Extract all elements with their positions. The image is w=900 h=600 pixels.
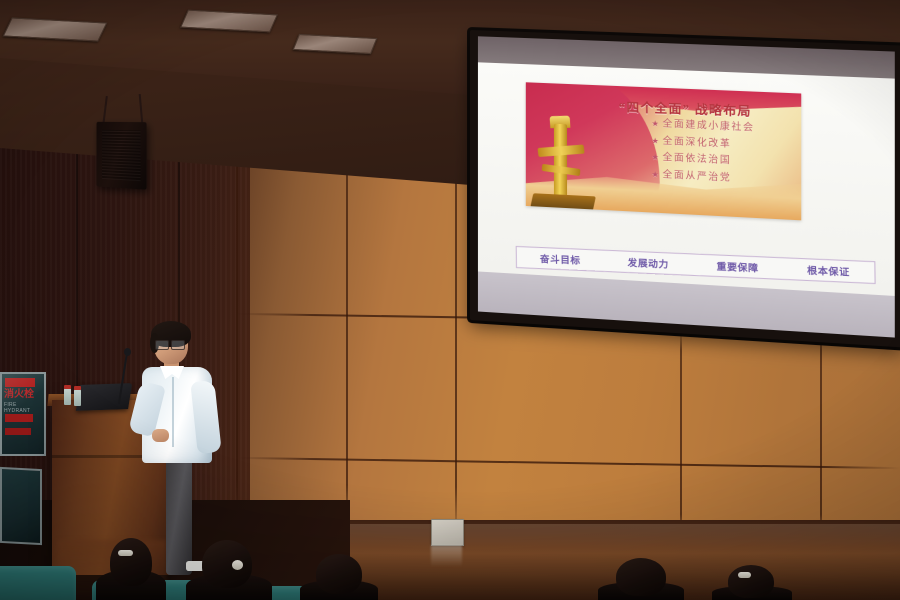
screen-surface: “四个全面” 战略布局 ★全面建成小康社会 ★全面深化改革 ★全面依法治国 ★全… — [478, 36, 895, 337]
slide-image-monument-icon — [532, 119, 595, 209]
star-icon: ★ — [652, 169, 661, 179]
audience-member — [186, 544, 272, 600]
bottle-cap — [64, 385, 71, 389]
slide-bullet-list: ★全面建成小康社会 ★全面深化改革 ★全面依法治国 ★全面从严治党 — [652, 120, 802, 195]
hydrant-glass-reflection — [2, 374, 48, 458]
audience-head — [728, 565, 774, 598]
lecture-hall-photo: “四个全面” 战略布局 ★全面建成小康社会 ★全面深化改革 ★全面依法治国 ★全… — [0, 0, 900, 600]
eyeglasses-icon — [155, 340, 185, 348]
audience-member — [712, 566, 792, 600]
water-bottle-icon — [74, 389, 81, 406]
hydrant-lower-glass — [0, 467, 42, 545]
bottle-cap — [74, 386, 81, 390]
presenter — [140, 325, 220, 575]
presenter-shirt-placket — [172, 377, 174, 447]
slide-bullet-text: 全面从严治党 — [663, 170, 732, 184]
wall-seam-vertical — [820, 330, 822, 535]
water-bottle-icon — [64, 388, 71, 405]
star-icon: ★ — [652, 136, 661, 146]
audience-head — [616, 558, 666, 596]
audience-head — [110, 538, 152, 586]
slide-bullet: ★全面深化改革 — [652, 137, 802, 154]
fire-hydrant-cabinet: 消火栓 FIRE HYDRANT — [0, 372, 46, 544]
loudspeaker-icon — [97, 122, 147, 190]
microphone-icon — [124, 348, 131, 356]
slide-bottom-item: 奋斗目标 — [540, 251, 581, 267]
wall-seam-vertical — [680, 330, 682, 535]
slide-bullet-text: 全面依法治国 — [663, 153, 732, 166]
slide-bottom-item: 根本保证 — [807, 262, 850, 278]
projection-screen[interactable]: “四个全面” 战略布局 ★全面建成小康社会 ★全面深化改革 ★全面依法治国 ★全… — [470, 30, 900, 347]
star-icon: ★ — [652, 119, 661, 129]
slide-bullet: ★全面建成小康社会 — [652, 120, 802, 137]
audience-chair — [0, 566, 76, 600]
audience-member — [300, 556, 378, 600]
wall-access-panel — [431, 519, 464, 546]
presenter-hand — [152, 429, 169, 442]
audience-head — [316, 554, 362, 594]
slide-bottom-item: 重要保障 — [716, 259, 758, 275]
hair-clip-icon — [232, 560, 243, 570]
wall-access-panel-reflection — [431, 545, 462, 567]
star-icon: ★ — [652, 152, 661, 162]
audience-member — [96, 540, 166, 600]
speaker-grill — [102, 130, 140, 181]
slide-bullet: ★全面依法治国 — [652, 154, 802, 171]
laptop-icon — [76, 383, 132, 411]
hydrant-upper-glass: 消火栓 FIRE HYDRANT — [0, 372, 46, 456]
hair-clip-icon — [738, 572, 751, 578]
audience-head — [202, 540, 252, 588]
slide-bullet: ★全面从严治党 — [652, 170, 802, 187]
slide-bottom-item: 发展动力 — [627, 255, 669, 271]
slide-bullet-text: 全面建成小康社会 — [663, 119, 755, 133]
slide-title: “四个全面” 战略布局 — [619, 96, 797, 121]
slide-image: “四个全面” 战略布局 ★全面建成小康社会 ★全面深化改革 ★全面依法治国 ★全… — [526, 82, 801, 220]
hair-clip-icon — [118, 550, 133, 556]
slide-canvas: “四个全面” 战略布局 ★全面建成小康社会 ★全面深化改革 ★全面依法治国 ★全… — [478, 62, 895, 296]
audience-member — [598, 560, 684, 600]
slide-bullet-text: 全面深化改革 — [663, 136, 732, 149]
